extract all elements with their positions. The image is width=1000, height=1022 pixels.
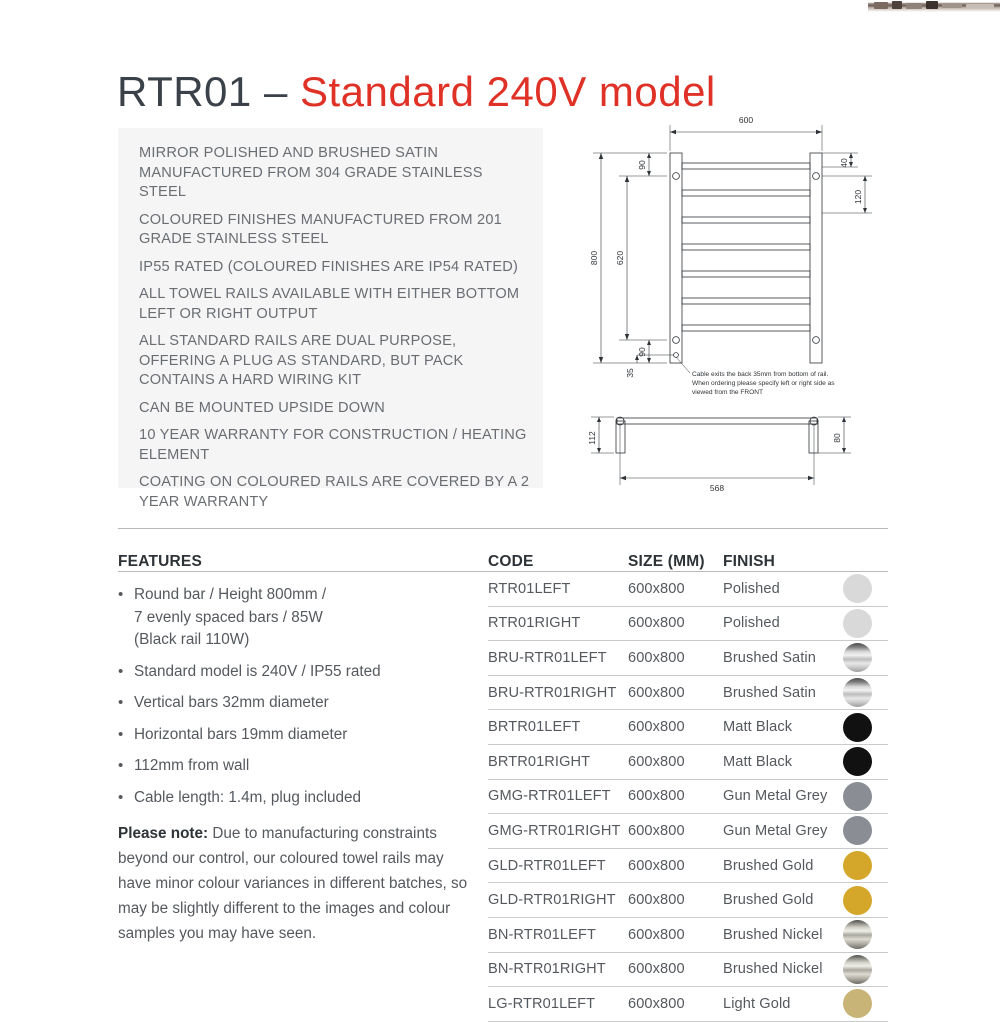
technical-drawing: 600 800 620 90 90 35 40 120 112 80 568 C… [575,105,905,505]
spec-line: COATING ON COLOURED RAILS ARE COVERED BY… [139,473,531,512]
cell-finish: Brushed Gold [723,892,843,908]
swatch-light-gold-icon [843,989,872,1018]
bullet-icon: • [118,787,134,810]
table-row[interactable]: GLD-RTR01RIGHT 600x800 Brushed Gold [488,883,888,918]
cell-finish: Polished [723,615,843,631]
spec-line: IP55 RATED (COLOURED FINISHES ARE IP54 R… [139,258,531,278]
please-note-label: Please note: [118,825,208,842]
feature-item: • Horizontal bars 19mm diameter [118,724,488,747]
feature-item: • Vertical bars 32mm diameter [118,692,488,715]
swatch-matt-black-icon [843,747,872,776]
spec-line: ALL STANDARD RAILS ARE DUAL PURPOSE, OFF… [139,332,531,391]
bullet-icon: • [118,755,134,778]
swatch-brushed-gold-icon [843,851,872,880]
feature-text: Standard model is 240V / IP55 rated [134,661,488,684]
table-row[interactable]: RTR01RIGHT 600x800 Polished [488,607,888,642]
swatch-brushed-satin-icon [843,643,872,672]
dim-inner-width-568: 568 [710,483,724,493]
cell-size: 600x800 [628,754,723,770]
swatch-brushed-gold-icon [843,886,872,915]
cell-size: 600x800 [628,858,723,874]
cell-size: 600x800 [628,892,723,908]
cell-code: BRU-RTR01LEFT [488,650,628,666]
table-row[interactable]: RTR01LEFT 600x800 Polished [488,572,888,607]
cell-swatch [843,574,888,603]
table-row[interactable]: LG-RTR01LEFT 600x800 Light Gold [488,987,888,1022]
cell-finish: Matt Black [723,754,843,770]
cell-swatch [843,851,888,880]
cell-size: 600x800 [628,685,723,701]
feature-text: 112mm from wall [134,755,488,778]
cell-swatch [843,955,888,984]
page-title-dash: – [264,68,288,115]
feature-text: Round bar / Height 800mm / 7 evenly spac… [134,584,488,652]
photo-fragment [868,0,1000,12]
cell-swatch [843,920,888,949]
cell-finish: Polished [723,581,843,597]
cable-annotation-line: When ordering please specify left or rig… [692,380,835,387]
dim-depth-112: 112 [587,431,597,445]
spec-line: CAN BE MOUNTED UPSIDE DOWN [139,399,531,419]
bullet-icon: • [118,724,134,747]
swatch-gun-metal-grey-icon [843,816,872,845]
dim-post-80: 80 [832,433,842,443]
features-and-codes-section: FEATURES CODE SIZE (MM) FINISH • Round b… [118,528,888,1022]
header-code: CODE [488,553,628,571]
dim-height-800: 800 [589,251,599,265]
please-note-text: Due to manufacturing constraints beyond … [118,825,467,942]
cable-annotation-line: viewed from the FRONT [692,389,763,396]
please-note-paragraph: Please note: Due to manufacturing constr… [118,821,478,946]
cell-swatch [843,643,888,672]
header-finish: FINISH [723,553,843,571]
table-row[interactable]: BRU-RTR01RIGHT 600x800 Brushed Satin [488,676,888,711]
cell-size: 600x800 [628,788,723,804]
features-column: • Round bar / Height 800mm / 7 evenly sp… [118,572,488,1022]
feature-text: Vertical bars 32mm diameter [134,692,488,715]
cell-size: 600x800 [628,719,723,735]
product-code-table: RTR01LEFT 600x800 Polished RTR01RIGHT 60… [488,572,888,1022]
header-size: SIZE (MM) [628,553,723,571]
swatch-polished-icon [843,574,872,603]
bullet-icon: • [118,661,134,684]
swatch-brushed-nickel-icon [843,920,872,949]
cell-size: 600x800 [628,927,723,943]
feature-item: • Round bar / Height 800mm / 7 evenly sp… [118,584,488,652]
table-row[interactable]: BRU-RTR01LEFT 600x800 Brushed Satin [488,641,888,676]
swatch-brushed-satin-icon [843,678,872,707]
cell-code: GLD-RTR01LEFT [488,858,628,874]
cell-size: 600x800 [628,996,723,1012]
cell-code: BRU-RTR01RIGHT [488,685,628,701]
cell-code: RTR01LEFT [488,581,628,597]
table-row[interactable]: BRTR01LEFT 600x800 Matt Black [488,710,888,745]
cell-code: BRTR01RIGHT [488,754,628,770]
cell-code: BN-RTR01RIGHT [488,961,628,977]
cell-finish: Brushed Satin [723,650,843,666]
cell-size: 600x800 [628,615,723,631]
cell-code: RTR01RIGHT [488,615,628,631]
cell-finish: Brushed Nickel [723,927,843,943]
cell-code: BRTR01LEFT [488,719,628,735]
cell-finish: Light Gold [723,996,843,1012]
bullet-icon: • [118,584,134,652]
cell-size: 600x800 [628,581,723,597]
cell-swatch [843,609,888,638]
dim-bracket-span-620: 620 [615,251,625,265]
cell-finish: Gun Metal Grey [723,823,843,839]
dim-bottom-offset-90: 90 [637,347,647,357]
dim-bracket-height-120: 120 [853,190,863,204]
table-row[interactable]: BN-RTR01RIGHT 600x800 Brushed Nickel [488,953,888,988]
swatch-gun-metal-grey-icon [843,782,872,811]
table-row[interactable]: GMG-RTR01LEFT 600x800 Gun Metal Grey [488,780,888,815]
table-row[interactable]: BN-RTR01LEFT 600x800 Brushed Nickel [488,918,888,953]
feature-item: • Standard model is 240V / IP55 rated [118,661,488,684]
dim-top-offset-90: 90 [637,160,647,170]
cell-finish: Brushed Nickel [723,961,843,977]
spec-line: COLOURED FINISHES MANUFACTURED FROM 201 … [139,211,531,250]
swatch-polished-icon [843,609,872,638]
swatch-brushed-nickel-icon [843,955,872,984]
bullet-icon: • [118,692,134,715]
table-row[interactable]: GMG-RTR01RIGHT 600x800 Gun Metal Grey [488,814,888,849]
cable-annotation-line: Cable exits the back 35mm from bottom of… [692,371,828,378]
cell-swatch [843,816,888,845]
cell-code: GMG-RTR01LEFT [488,788,628,804]
cell-code: GLD-RTR01RIGHT [488,892,628,908]
cell-swatch [843,747,888,776]
cell-finish: Matt Black [723,719,843,735]
cell-swatch [843,989,888,1018]
cell-size: 600x800 [628,823,723,839]
specification-list: MIRROR POLISHED AND BRUSHED SATIN MANUFA… [139,144,531,520]
cell-code: LG-RTR01LEFT [488,996,628,1012]
page-title-code: RTR01 [117,68,252,115]
cell-swatch [843,713,888,742]
feature-item: • 112mm from wall [118,755,488,778]
dim-bracket-depth-40: 40 [839,158,849,168]
feature-text: Horizontal bars 19mm diameter [134,724,488,747]
spec-line: 10 YEAR WARRANTY FOR CONSTRUCTION / HEAT… [139,426,531,465]
table-row[interactable]: GLD-RTR01LEFT 600x800 Brushed Gold [488,849,888,884]
cell-swatch [843,782,888,811]
feature-item: • Cable length: 1.4m, plug included [118,787,488,810]
feature-text: Cable length: 1.4m, plug included [134,787,488,810]
dim-cable-offset-35: 35 [625,368,635,378]
cell-code: GMG-RTR01RIGHT [488,823,628,839]
dim-width-600: 600 [739,115,753,125]
table-header-row: FEATURES CODE SIZE (MM) FINISH [118,529,888,571]
cell-finish: Gun Metal Grey [723,788,843,804]
cell-size: 600x800 [628,961,723,977]
table-row[interactable]: BRTR01RIGHT 600x800 Matt Black [488,745,888,780]
cell-finish: Brushed Satin [723,685,843,701]
specification-box: MIRROR POLISHED AND BRUSHED SATIN MANUFA… [118,128,543,488]
cell-swatch [843,886,888,915]
swatch-matt-black-icon [843,713,872,742]
cell-size: 600x800 [628,650,723,666]
cell-swatch [843,678,888,707]
cell-code: BN-RTR01LEFT [488,927,628,943]
spec-line: MIRROR POLISHED AND BRUSHED SATIN MANUFA… [139,144,531,203]
header-features: FEATURES [118,553,488,571]
spec-line: ALL TOWEL RAILS AVAILABLE WITH EITHER BO… [139,285,531,324]
cell-finish: Brushed Gold [723,858,843,874]
